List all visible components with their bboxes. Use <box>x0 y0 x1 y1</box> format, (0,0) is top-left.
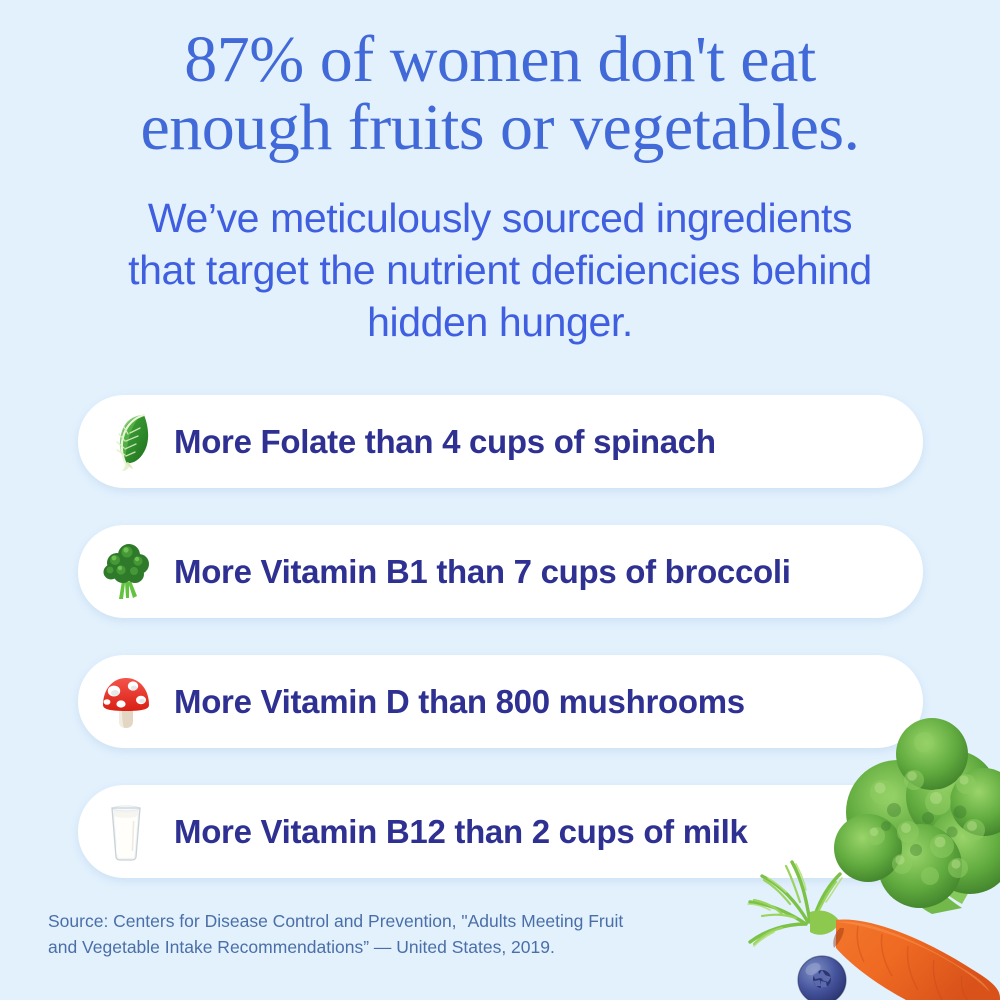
broccoli-icon <box>78 525 174 618</box>
page-subtitle: We’ve meticulously sourced ingredients t… <box>60 192 940 348</box>
mushroom-icon <box>78 655 174 748</box>
benefit-card: More Folate than 4 cups of spinach <box>78 395 923 488</box>
benefit-card-label: More Vitamin D than 800 mushrooms <box>174 683 923 721</box>
benefit-card: More Vitamin B12 than 2 cups of milk <box>78 785 923 878</box>
leafy-green-icon <box>78 395 174 488</box>
headline-line-2: enough fruits or vegetables. <box>40 94 960 162</box>
page-title: 87% of women don't eat enough fruits or … <box>40 26 960 162</box>
benefit-card: More Vitamin B1 than 7 cups of broccoli <box>78 525 923 618</box>
infographic-poster: 87% of women don't eat enough fruits or … <box>0 0 1000 1000</box>
source-footnote: Source: Centers for Disease Control and … <box>48 908 698 960</box>
headline-line-1: 87% of women don't eat <box>40 26 960 94</box>
subhead-line-2: that target the nutrient deficiencies be… <box>60 244 940 296</box>
subhead-line-1: We’ve meticulously sourced ingredients <box>60 192 940 244</box>
benefit-card-label: More Folate than 4 cups of spinach <box>174 423 923 461</box>
benefit-card-label: More Vitamin B1 than 7 cups of broccoli <box>174 553 923 591</box>
footnote-line-2: and Vegetable Intake Recommendations” — … <box>48 934 698 960</box>
glass-of-milk-icon <box>78 785 174 878</box>
benefit-card-label: More Vitamin B12 than 2 cups of milk <box>174 813 923 851</box>
benefit-card: More Vitamin D than 800 mushrooms <box>78 655 923 748</box>
blueberry-photo <box>798 956 846 1000</box>
footnote-line-1: Source: Centers for Disease Control and … <box>48 908 698 934</box>
subhead-line-3: hidden hunger. <box>60 296 940 348</box>
benefit-card-list: More Folate than 4 cups of spinach <box>78 395 923 915</box>
